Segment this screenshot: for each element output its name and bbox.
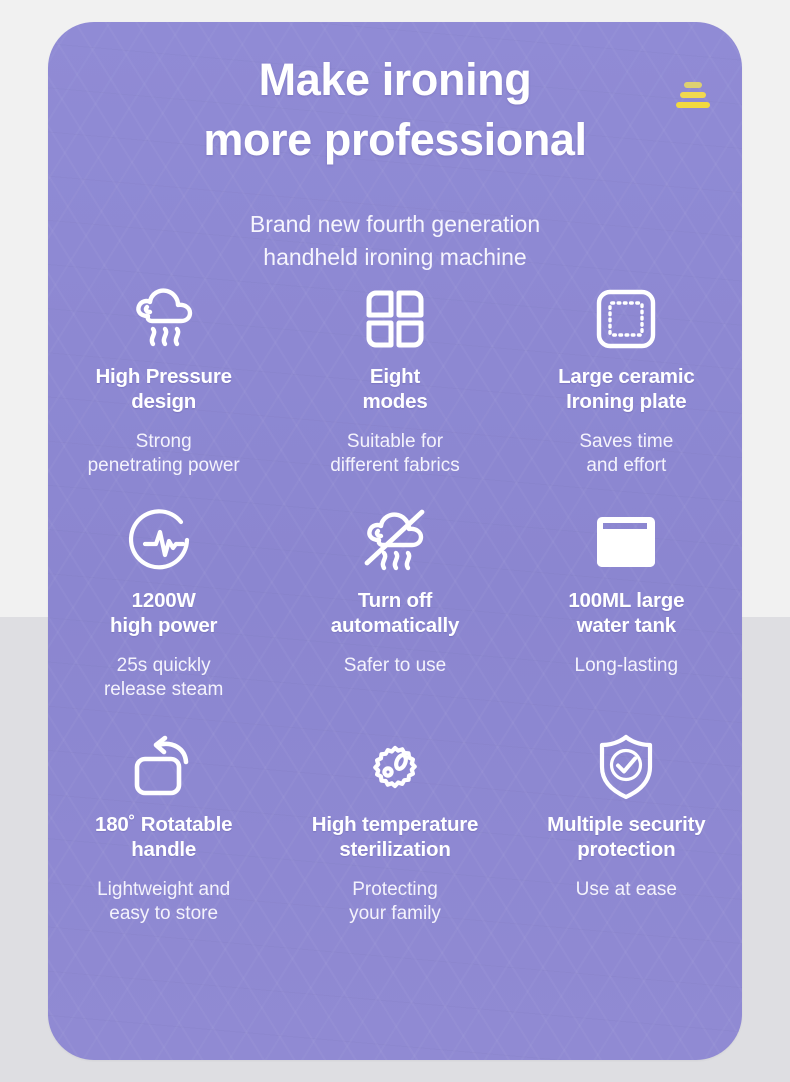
feature-title: 180˚ Rotatable handle <box>95 812 232 863</box>
feature-subtitle: Saves time and effort <box>579 430 673 479</box>
feature-title-line-1: Turn off <box>358 589 432 612</box>
feature-subtitle: Use at ease <box>576 878 677 902</box>
feature-title-line-2: water tank <box>568 613 684 638</box>
feature-title: High Pressure design <box>95 364 231 415</box>
feature-grid: High Pressure design Strong penetrating … <box>48 280 742 952</box>
power-pulse-icon <box>131 504 197 582</box>
feature-sub-line-1: 25s quickly <box>117 655 211 676</box>
feature-item: 1200W high power 25s quickly release ste… <box>48 504 279 728</box>
feature-sub-line-1: Saves time <box>579 431 673 452</box>
feature-subtitle: Long-lasting <box>575 654 679 678</box>
feature-subtitle: Protecting your family <box>349 878 441 927</box>
feature-title-line-2: sterilization <box>312 837 479 862</box>
feature-sub-line-2: easy to store <box>97 902 230 926</box>
feature-title-line-1: Multiple security <box>547 813 705 836</box>
feature-title-line-1: 1200W <box>132 589 196 612</box>
stacked-bar-top <box>684 82 702 88</box>
feature-item: Large ceramic Ironing plate Saves time a… <box>511 280 742 504</box>
feature-title-line-1: High Pressure <box>95 365 231 388</box>
feature-sub-line-2: different fabrics <box>330 454 460 478</box>
feature-subtitle: 25s quickly release steam <box>104 654 223 703</box>
feature-sub-line-2: your family <box>349 902 441 926</box>
feature-title-line-1: 100ML large <box>568 589 684 612</box>
feature-item: High Pressure design Strong penetrating … <box>48 280 279 504</box>
feature-sub-line-1: Suitable for <box>347 431 443 452</box>
feature-title-line-2: modes <box>362 389 427 414</box>
feature-title: Large ceramic Ironing plate <box>558 364 694 415</box>
feature-title-line-2: design <box>95 389 231 414</box>
no-steam-auto-off-icon <box>357 504 433 582</box>
page-title: Make ironing more professional <box>48 50 742 171</box>
headline-line-1: Make ironing <box>259 54 532 105</box>
feature-item: 100ML large water tank Long-lasting <box>511 504 742 728</box>
rotate-handle-icon <box>131 728 197 806</box>
feature-title-line-2: automatically <box>331 613 459 638</box>
feature-item: Multiple security protection Use at ease <box>511 728 742 952</box>
feature-item: Turn off automatically Safer to use <box>279 504 510 728</box>
feature-item: Eight modes Suitable for different fabri… <box>279 280 510 504</box>
feature-sub-line-1: Long-lasting <box>575 655 679 676</box>
feature-title-line-2: protection <box>547 837 705 862</box>
feature-title: Multiple security protection <box>547 812 705 863</box>
feature-title-line-2: high power <box>110 613 217 638</box>
shield-check-icon <box>595 728 657 806</box>
feature-subtitle: Safer to use <box>344 654 446 678</box>
stacked-bar-bottom <box>676 102 710 108</box>
feature-title: 1200W high power <box>110 588 217 639</box>
feature-item: High temperature sterilization Protectin… <box>279 728 510 952</box>
feature-title: High temperature sterilization <box>312 812 479 863</box>
germ-sterilization-icon <box>364 728 426 806</box>
feature-sub-line-2: and effort <box>579 454 673 478</box>
steam-cloud-icon <box>126 280 202 358</box>
headline-line-2: more professional <box>48 110 742 170</box>
feature-title: Turn off automatically <box>331 588 459 639</box>
feature-sub-line-1: Use at ease <box>576 879 677 900</box>
ceramic-plate-icon <box>595 280 657 358</box>
feature-title-line-1: Large ceramic <box>558 365 694 388</box>
stacked-bars-icon <box>670 82 716 128</box>
feature-sub-line-1: Lightweight and <box>97 879 230 900</box>
feature-item: 180˚ Rotatable handle Lightweight and ea… <box>48 728 279 952</box>
feature-subtitle: Suitable for different fabrics <box>330 430 460 479</box>
feature-title-line-2: handle <box>95 837 232 862</box>
stacked-bar-middle <box>680 92 706 98</box>
feature-title-line-1: Eight <box>370 365 420 388</box>
page-subtitle: Brand new fourth generation handheld iro… <box>48 208 742 273</box>
product-feature-card: Make ironing more professional Brand new… <box>48 22 742 1060</box>
feature-sub-line-1: Safer to use <box>344 655 446 676</box>
feature-title-line-1: High temperature <box>312 813 479 836</box>
subhead-line-2: handheld ironing machine <box>48 241 742 274</box>
water-tank-icon <box>591 504 661 582</box>
feature-subtitle: Lightweight and easy to store <box>97 878 230 927</box>
subhead-line-1: Brand new fourth generation <box>250 211 540 237</box>
feature-sub-line-2: release steam <box>104 678 223 702</box>
feature-title-line-1: 180˚ Rotatable <box>95 813 232 836</box>
four-squares-grid-icon <box>364 280 426 358</box>
feature-sub-line-2: penetrating power <box>88 454 240 478</box>
feature-title: 100ML large water tank <box>568 588 684 639</box>
feature-sub-line-1: Protecting <box>352 879 438 900</box>
feature-title: Eight modes <box>362 364 427 415</box>
feature-sub-line-1: Strong <box>136 431 192 452</box>
feature-title-line-2: Ironing plate <box>558 389 694 414</box>
feature-subtitle: Strong penetrating power <box>88 430 240 479</box>
